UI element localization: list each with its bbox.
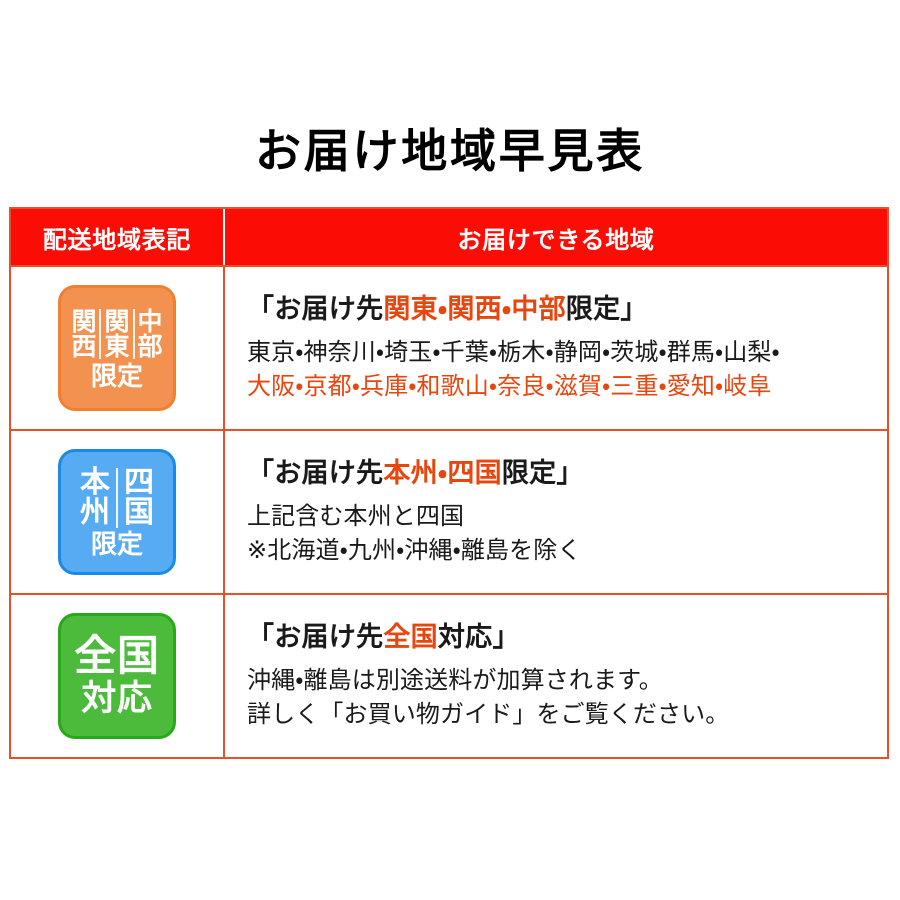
row-detail-line: 上記含む本州と四国 <box>247 499 877 533</box>
badge-columns: 四 国 本 州 <box>74 468 160 528</box>
badge-kanto-kansai-chubu-limited: 中 部 関 東 関 西 限定 <box>58 285 176 411</box>
row-content: 「お届け先本州・四国限定」 上記含む本州と四国 ※北海道・九州・沖縄・離島を除く <box>225 431 887 593</box>
row-headline: 「お届け先全国対応」 <box>247 621 877 655</box>
headline-suffix: 対応」 <box>438 622 520 653</box>
headline-prefix: 「お届け先 <box>247 622 383 653</box>
header-label-deliverable-areas: お届けできる地域 <box>457 220 654 255</box>
badge-honshu-shikoku-limited: 四 国 本 州 限定 <box>58 449 176 575</box>
badge-inner: 四 国 本 州 限定 <box>61 451 173 573</box>
table-row: 中 部 関 東 関 西 限定 <box>11 265 887 429</box>
headline-prefix: 「お届け先 <box>247 458 383 489</box>
badge-bottom-label: 限定 <box>91 364 143 390</box>
header-cell-area-label: 配送地域表記 <box>11 209 225 265</box>
table-header-row: 配送地域表記 お届けできる地域 <box>11 209 887 265</box>
row-headline: 「お届け先関東・関西・中部限定」 <box>247 293 877 327</box>
badge-char: 関 <box>104 309 129 334</box>
headline-highlight: 全国 <box>383 622 438 653</box>
badge-cell: 中 部 関 東 関 西 限定 <box>11 267 225 429</box>
badge-column-chubu: 中 部 <box>135 309 166 359</box>
row-detail-line: 詳しく「お買い物ガイド」をご覧ください。 <box>247 697 877 731</box>
row-detail-line: 大阪・京都・兵庫・和歌山・奈良・滋賀・三重・愛知・岐阜 <box>247 369 877 403</box>
badge-char: 西 <box>71 334 96 359</box>
badge-char: 国 <box>124 498 154 528</box>
badge-cell: 四 国 本 州 限定 <box>11 431 225 593</box>
row-detail-line: 東京・神奈川・埼玉・千葉・栃木・静岡・茨城・群馬・山梨・ <box>247 335 877 369</box>
table-row: 四 国 本 州 限定 「お届け先本州・四国限定」 上記含む本州と <box>11 429 887 593</box>
badge-char: 州 <box>80 498 110 528</box>
table-row: 全国 対応 「お届け先全国対応」 沖縄・離島は別途送料が加算されます。 詳しく「… <box>11 593 887 757</box>
badge-char: 関 <box>71 309 96 334</box>
row-detail-line: ※北海道・九州・沖縄・離島を除く <box>247 533 877 567</box>
page-title: お届け地域早見表 <box>0 126 900 177</box>
page-root: お届け地域早見表 配送地域表記 お届けできる地域 中 部 <box>0 0 900 900</box>
headline-prefix: 「お届け先 <box>247 294 383 325</box>
badge-inner: 中 部 関 東 関 西 限定 <box>61 287 173 409</box>
row-content: 「お届け先関東・関西・中部限定」 東京・神奈川・埼玉・千葉・栃木・静岡・茨城・群… <box>225 267 887 429</box>
badge-column-kansai: 関 西 <box>68 309 101 359</box>
badge-nationwide-supported: 全国 対応 <box>58 613 176 739</box>
row-headline: 「お届け先本州・四国限定」 <box>247 457 877 491</box>
badge-char: 部 <box>138 334 163 359</box>
badge-bottom-label: 限定 <box>91 532 143 558</box>
badge-char: 中 <box>138 309 163 334</box>
badge-inner: 全国 対応 <box>61 616 173 736</box>
row-detail-line: 沖縄・離島は別途送料が加算されます。 <box>247 663 877 697</box>
badge-line-nationwide: 全国 <box>74 635 160 677</box>
headline-highlight: 関東・関西・中部 <box>383 294 566 325</box>
badge-column-shikoku: 四 国 <box>118 468 160 528</box>
badge-column-honshu: 本 州 <box>74 468 118 528</box>
badge-char: 東 <box>104 334 129 359</box>
headline-suffix: 限定」 <box>566 294 648 325</box>
header-label-shipping-area: 配送地域表記 <box>43 220 191 255</box>
badge-char: 四 <box>124 468 154 498</box>
badge-cell: 全国 対応 <box>11 595 225 757</box>
headline-highlight: 本州・四国 <box>383 458 502 489</box>
row-content: 「お届け先全国対応」 沖縄・離島は別途送料が加算されます。 詳しく「お買い物ガイ… <box>225 595 887 757</box>
badge-column-kanto: 関 東 <box>101 309 134 359</box>
header-cell-deliverable-areas: お届けできる地域 <box>225 209 887 265</box>
badge-char: 本 <box>80 468 110 498</box>
badge-line-supported: 対応 <box>81 682 152 717</box>
delivery-area-table: 配送地域表記 お届けできる地域 中 部 関 <box>9 207 889 759</box>
headline-suffix: 限定」 <box>502 458 584 489</box>
badge-columns: 中 部 関 東 関 西 <box>68 309 165 359</box>
